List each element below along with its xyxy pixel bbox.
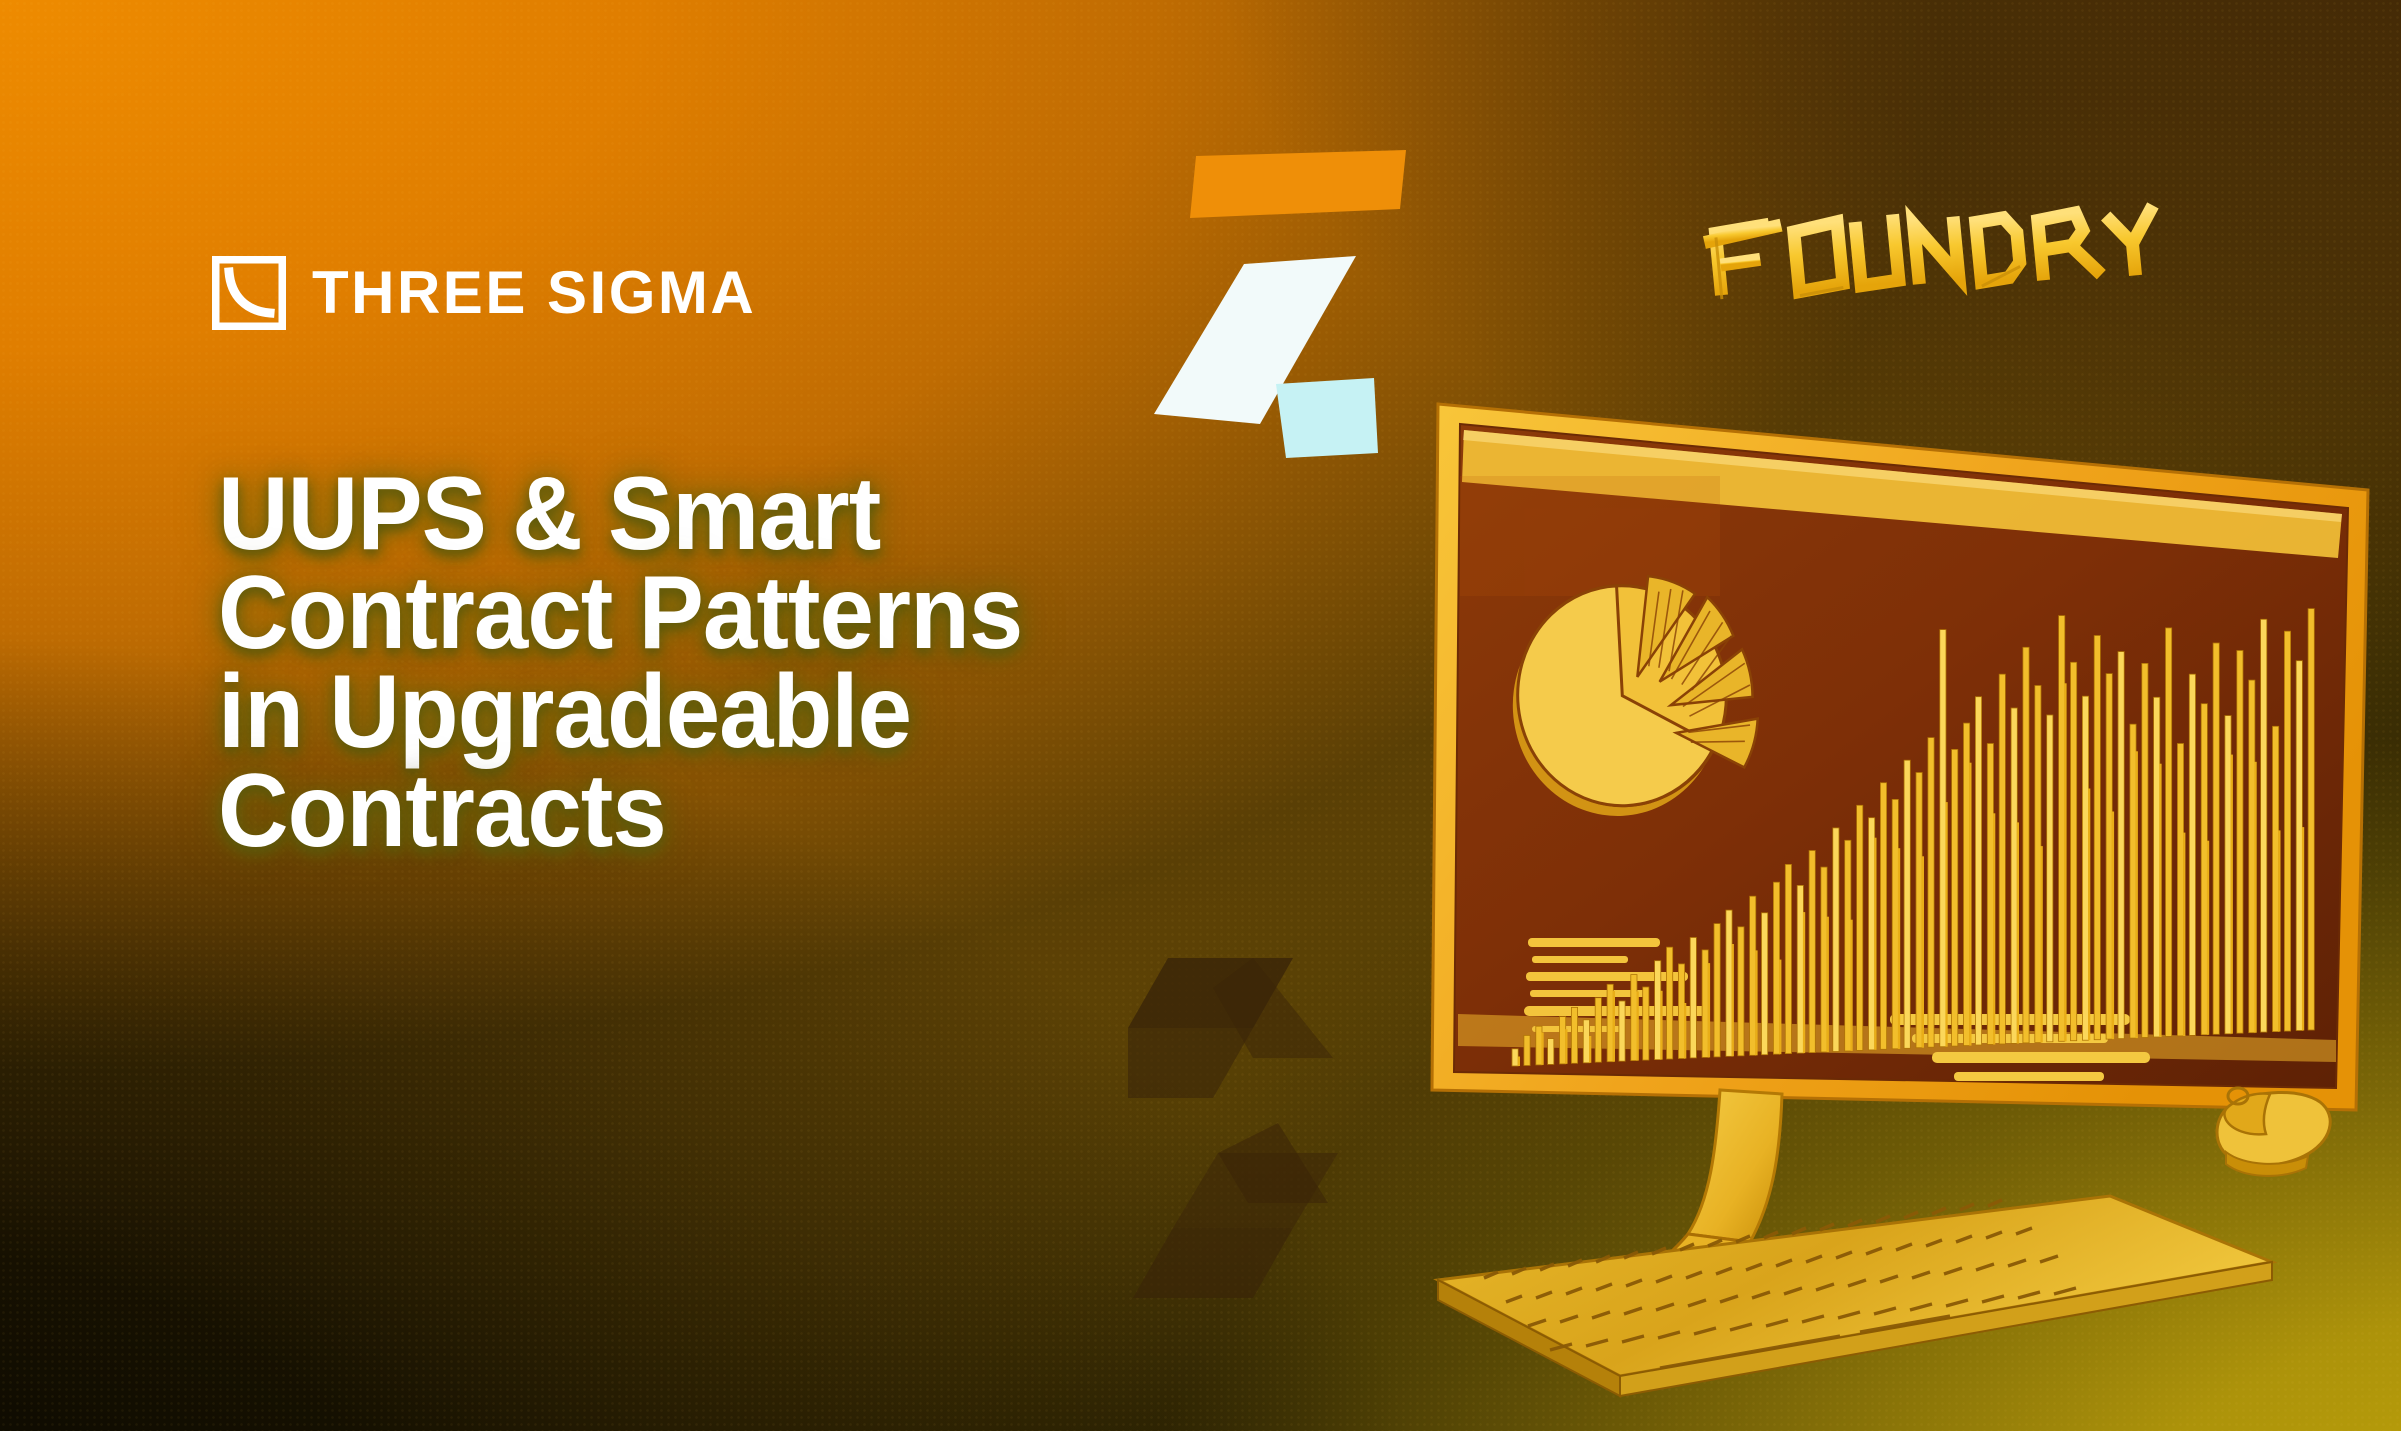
bar	[2284, 631, 2290, 1031]
bar	[2296, 661, 2302, 1031]
bar	[1738, 927, 1744, 1056]
bar	[1880, 783, 1886, 1050]
bar	[1536, 1026, 1542, 1065]
bar-accent	[1541, 1032, 1543, 1065]
bar	[2082, 696, 2088, 1040]
bar	[1524, 1035, 1530, 1065]
bar	[2177, 744, 2183, 1036]
bar	[2225, 716, 2231, 1034]
bar	[1560, 1017, 1566, 1064]
brand-wordmark: THREE SIGMA	[312, 263, 756, 323]
bar-accent	[1732, 944, 1734, 1056]
bar	[1845, 840, 1851, 1051]
bar	[2237, 651, 2243, 1034]
bar	[2071, 662, 2077, 1040]
bar-accent	[1898, 848, 1900, 1049]
bar-accent	[2088, 789, 2090, 1041]
title-line-4: Contracts	[218, 762, 1327, 861]
bar-accent	[2064, 683, 2066, 1041]
bar-accent	[2278, 830, 2280, 1031]
bar	[1833, 828, 1839, 1052]
bar	[1726, 910, 1732, 1056]
bar	[1952, 749, 1958, 1046]
desktop-computer-illustration	[1420, 390, 2401, 1431]
zellic-z-logo	[1148, 146, 1408, 466]
bar	[1869, 818, 1875, 1050]
letter-z-logo-icon	[1148, 146, 1408, 466]
bar	[2261, 619, 2267, 1032]
bar	[2118, 652, 2124, 1039]
bar-accent	[2136, 751, 2138, 1038]
bar-accent	[1755, 950, 1757, 1055]
bar	[1916, 773, 1922, 1048]
bar-accent	[2041, 846, 2043, 1042]
bar	[1512, 1049, 1518, 1066]
bar	[2273, 726, 2279, 1031]
bar-accent	[2159, 764, 2161, 1037]
bar-accent	[2183, 833, 2185, 1036]
bar	[2166, 628, 2172, 1037]
bar	[1797, 885, 1803, 1053]
bar	[1940, 630, 1946, 1047]
bar-accent	[2302, 827, 2304, 1030]
bar	[1987, 744, 1993, 1045]
bar-accent	[1589, 1036, 1591, 1063]
bar	[1714, 924, 1720, 1057]
bar	[1571, 1007, 1577, 1063]
bar-accent	[2254, 762, 2256, 1033]
bar	[1762, 913, 1768, 1055]
bar-accent	[1993, 813, 1995, 1044]
solidity-logo	[1128, 938, 1378, 1328]
bar	[1750, 896, 1756, 1055]
bar	[1548, 1039, 1554, 1065]
bar	[1667, 947, 1673, 1059]
bar	[2201, 704, 2207, 1035]
bar-accent	[2017, 822, 2019, 1043]
page-title: UUPS & Smart Contract Patterns in Upgrad…	[218, 465, 1398, 861]
bar-accent	[1945, 802, 1947, 1047]
bar	[1975, 697, 1981, 1045]
solidity-logo-icon	[1128, 938, 1378, 1328]
bar	[2213, 643, 2219, 1034]
title-line-2: Contract Patterns	[218, 564, 1327, 663]
bar	[1643, 987, 1649, 1060]
bar-accent	[1827, 917, 1829, 1052]
bar	[2142, 663, 2148, 1037]
bar	[2035, 686, 2041, 1043]
bar	[1773, 882, 1779, 1054]
bar	[1809, 851, 1815, 1053]
bar-accent	[1708, 963, 1710, 1057]
bar	[1892, 799, 1898, 1048]
bar	[1785, 864, 1791, 1053]
bar	[1702, 950, 1708, 1058]
bar	[2011, 708, 2017, 1043]
promo-banner: THREE SIGMA UUPS & Smart Contract Patter…	[0, 0, 2401, 1431]
bar	[1999, 674, 2005, 1044]
bar-accent	[1803, 912, 1805, 1053]
bar	[2059, 616, 2065, 1042]
bar	[1619, 1001, 1625, 1061]
bar-accent	[1779, 960, 1781, 1055]
bar	[1655, 961, 1661, 1060]
bar	[2047, 715, 2053, 1042]
bar	[1583, 1020, 1589, 1063]
bar	[2130, 724, 2136, 1038]
bar	[1821, 867, 1827, 1052]
bar-accent	[1969, 763, 1971, 1046]
bar	[2249, 680, 2255, 1033]
three-sigma-square-curve-icon	[212, 256, 286, 330]
screen-halftone	[1460, 476, 1720, 596]
bar	[2308, 609, 2314, 1030]
bar-accent	[2112, 812, 2114, 1040]
bar	[1904, 760, 1910, 1048]
bar	[1857, 805, 1863, 1050]
bar	[1928, 738, 1934, 1048]
mouse	[2217, 1088, 2330, 1176]
bar-accent	[2207, 841, 2209, 1035]
bar	[1678, 964, 1684, 1059]
bar	[2189, 674, 2195, 1035]
bar	[2094, 636, 2100, 1040]
bar-accent	[1660, 991, 1662, 1060]
bar-accent	[1850, 920, 1852, 1051]
bar	[1631, 975, 1637, 1061]
bar	[1690, 938, 1696, 1058]
bar-accent	[1613, 991, 1615, 1062]
bar-accent	[1922, 856, 1924, 1047]
bar-accent	[1518, 1057, 1520, 1067]
bar	[2023, 647, 2029, 1043]
bar-accent	[1684, 1003, 1686, 1059]
brand-wordmark-text: THREE SIGMA	[312, 263, 756, 323]
bar-accent	[2231, 755, 2233, 1034]
bar	[1964, 723, 1970, 1046]
bar	[1607, 984, 1613, 1061]
title-line-3: in Upgradeable	[218, 663, 1327, 762]
title-line-1: UUPS & Smart	[218, 465, 1327, 564]
bar	[1595, 998, 1601, 1062]
brand-logo[interactable]: THREE SIGMA	[212, 256, 756, 330]
bar	[2154, 697, 2160, 1037]
bar-accent	[1637, 991, 1639, 1060]
bar-accent	[1874, 838, 1876, 1050]
bar	[2106, 674, 2112, 1040]
bar-accent	[1565, 1029, 1567, 1064]
keyboard	[1438, 1196, 2272, 1396]
